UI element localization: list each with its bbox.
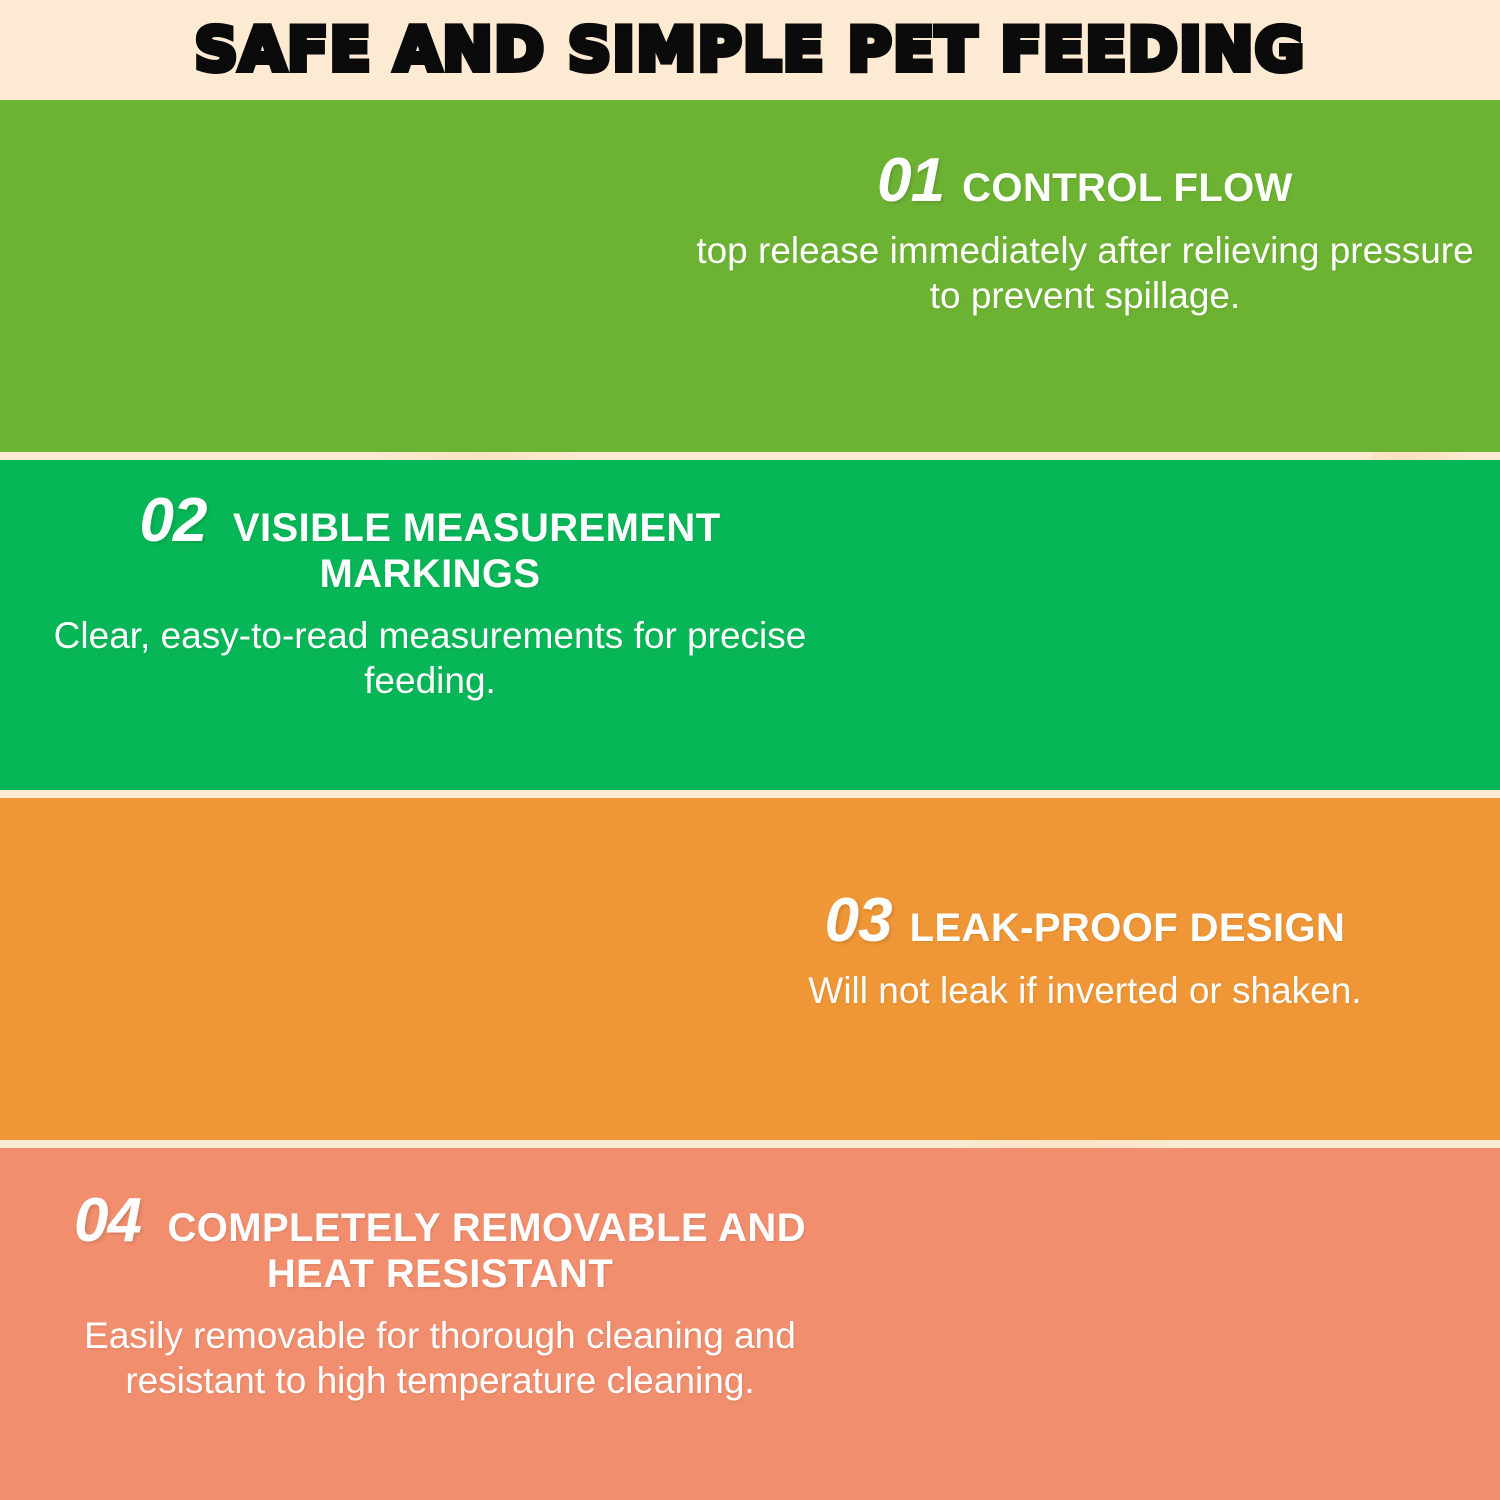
feature-text-03: 03 LEAK-PROOF DESIGN Will not leak if in… [690,890,1480,1013]
feature-description-02: Clear, easy-to-read measurements for pre… [30,613,830,703]
feature-number-04: 04 [74,1186,141,1255]
feature-description-03: Will not leak if inverted or shaken. [690,968,1480,1013]
feature-heading-02: 02 VISIBLE MEASUREMENT MARKINGS [30,490,830,597]
feature-number-02: 02 [139,486,206,555]
feature-text-02: 02 VISIBLE MEASUREMENT MARKINGS Clear, e… [30,490,830,703]
feature-heading-label-03: LEAK-PROOF DESIGN [910,906,1346,951]
feature-heading-label-04: COMPLETELY REMOVABLE AND HEAT RESISTANT [167,1206,806,1296]
page-title: SAFE AND SIMPLE PET FEEDING [194,15,1305,85]
feature-heading-04: 04 COMPLETELY REMOVABLE AND HEAT RESISTA… [20,1190,860,1297]
feature-heading-label-02: VISIBLE MEASUREMENT MARKINGS [233,506,721,596]
page-title-bar: SAFE AND SIMPLE PET FEEDING [0,0,1500,100]
feature-number-03: 03 [825,890,892,952]
feature-description-01: top release immediately after relieving … [690,228,1480,318]
feature-number-01: 01 [877,150,944,212]
feature-description-04: Easily removable for thorough cleaning a… [20,1313,860,1403]
feature-text-04: 04 COMPLETELY REMOVABLE AND HEAT RESISTA… [20,1190,860,1403]
feature-heading-01: 01 CONTROL FLOW [690,150,1480,212]
feature-heading-03: 03 LEAK-PROOF DESIGN [690,890,1480,952]
feature-heading-label-01: CONTROL FLOW [962,166,1293,211]
feature-text-01: 01 CONTROL FLOW top release immediately … [690,150,1480,318]
